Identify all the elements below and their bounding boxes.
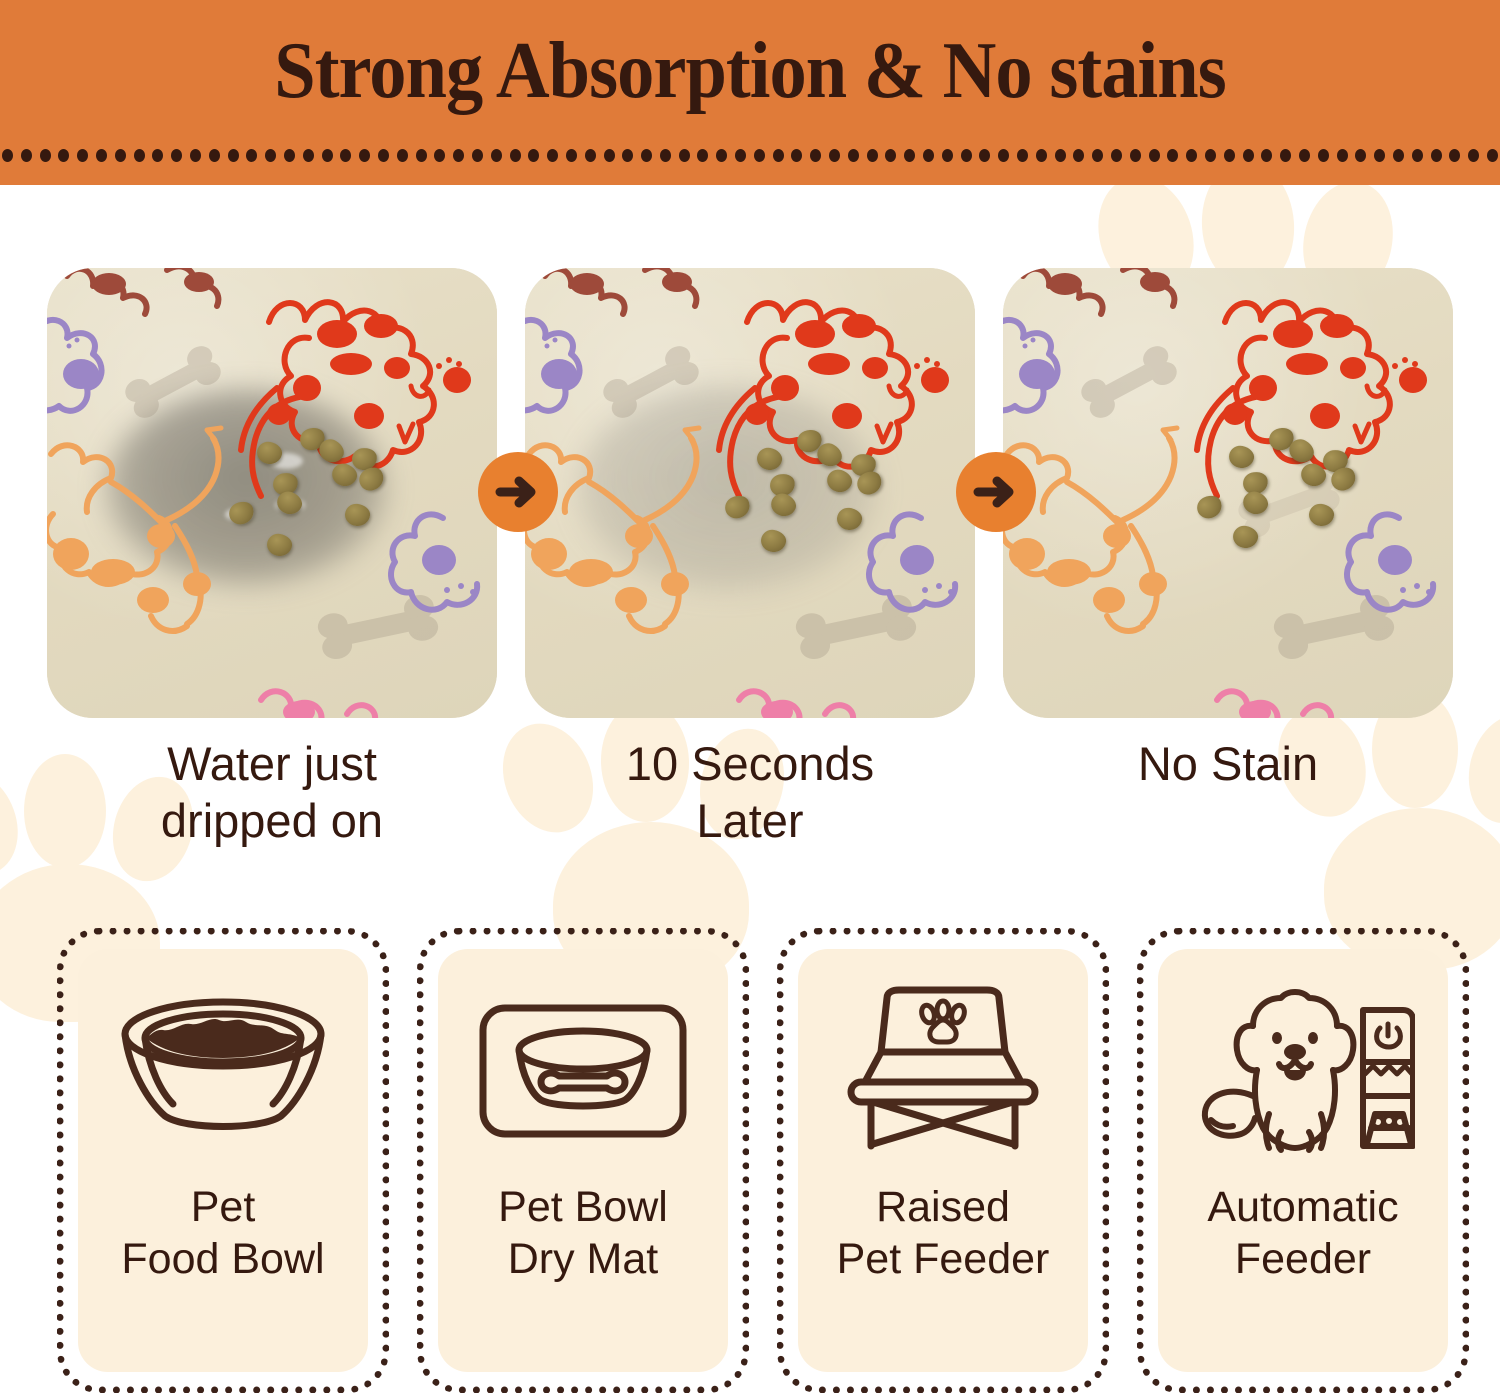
feature-card-pet-food-bowl[interactable]: Pet Food Bowl: [57, 928, 389, 1393]
compatible-products-row: Pet Food Bowl Pet Bowl Dry Mat: [0, 928, 1500, 1393]
feature-card-label: Pet Bowl Dry Mat: [498, 1181, 668, 1286]
bowl-mat-icon: [467, 975, 699, 1165]
banner-dotted-divider: [0, 147, 1500, 163]
mat-cartoon-artwork: [47, 268, 497, 718]
feature-card-pet-bowl-dry-mat[interactable]: Pet Bowl Dry Mat: [417, 928, 749, 1393]
caption-step-1: Water just dripped on: [47, 735, 497, 850]
caption-step-2: 10 Seconds Later: [525, 735, 975, 850]
page-title: Strong Absorption & No stains: [53, 26, 1448, 117]
demo-photo-step-3: [1003, 268, 1453, 718]
automatic-feeder-dog-icon: [1187, 975, 1419, 1165]
arrow-right-icon: [478, 452, 558, 532]
feature-card-label: Raised Pet Feeder: [837, 1181, 1050, 1286]
demo-photo-step-1: [47, 268, 497, 718]
caption-step-3: No Stain: [1003, 735, 1453, 792]
dog-food-bowl-icon: [107, 975, 339, 1165]
header-banner: Strong Absorption & No stains: [0, 0, 1500, 185]
absorption-demo-strip: [0, 268, 1500, 723]
feature-card-label: Pet Food Bowl: [121, 1181, 324, 1286]
mat-cartoon-artwork: [1003, 268, 1453, 718]
feature-card-label: Automatic Feeder: [1207, 1181, 1398, 1286]
feature-card-raised-pet-feeder[interactable]: Raised Pet Feeder: [777, 928, 1109, 1393]
raised-feeder-icon: [827, 975, 1059, 1165]
mat-cartoon-artwork: [525, 268, 975, 718]
infographic-page: Strong Absorption & No stains: [0, 0, 1500, 1393]
demo-photo-step-2: [525, 268, 975, 718]
arrow-right-icon: [956, 452, 1036, 532]
feature-card-automatic-feeder[interactable]: Automatic Feeder: [1137, 928, 1469, 1393]
